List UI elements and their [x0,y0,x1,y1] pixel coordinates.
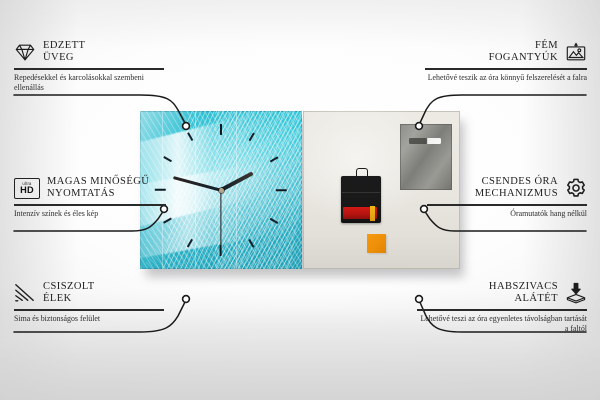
callout-description: Lehetővé teszik az óra könnyű felszerelé… [425,73,587,83]
callout-tempered-glass: EDZETTÜVEG Repedésekkel és karcolásokkal… [14,40,164,93]
callout-header: CSISZOLTÉLEK [14,281,164,306]
callout-title: MAGAS MINŐSÉGŰNYOMTATÁS [47,176,149,201]
callout-header: FÉMFOGANTYÚK [425,40,587,65]
clock-tick [163,189,221,223]
diagonal-lines-icon [14,282,36,304]
ultra-hd-icon-main: HD [20,186,34,195]
callout-divider [425,68,587,69]
callout-title: CSENDES ÓRAMECHANIZMUS [475,176,558,201]
battery-terminal [370,206,375,221]
callout-metal-handles: FÉMFOGANTYÚK Lehetővé teszik az óra könn… [425,40,587,83]
battery [343,207,376,219]
product-image [140,111,460,269]
callout-title: FÉMFOGANTYÚK [489,40,558,65]
clock-tick [221,189,287,191]
hanger-slot [409,138,441,144]
callout-silent-mechanism: CSENDES ÓRAMECHANIZMUS Óramutatók hang n… [427,176,587,219]
callout-title: HABSZIVACSALÁTÉT [489,281,558,306]
movement-seam [342,192,380,193]
callout-high-quality-print: ultra HD MAGAS MINŐSÉGŰNYOMTATÁS Intenzí… [14,176,166,219]
picture-frame-hanger-icon [565,41,587,63]
callout-description: Intenzív színek és éles kép [14,209,166,219]
movement-hook [356,168,368,178]
gear-icon [565,177,587,199]
clock-tick [220,124,222,190]
callout-polished-edges: CSISZOLTÉLEK Sima és biztonságos felület [14,281,164,324]
callout-divider [14,204,166,205]
callout-divider [427,204,587,205]
callout-description: Repedésekkel és karcolásokkal szembeni e… [14,73,164,93]
callout-header: EDZETTÜVEG [14,40,164,65]
ultra-hd-icon: ultra HD [14,178,40,199]
diamond-icon [14,41,36,63]
callout-header: CSENDES ÓRAMECHANIZMUS [427,176,587,201]
callout-divider [14,68,164,69]
callout-title: CSISZOLTÉLEK [43,281,95,306]
infographic-canvas: EDZETTÜVEG Repedésekkel és karcolásokkal… [0,0,600,400]
callout-title: EDZETTÜVEG [43,40,85,65]
arrow-onto-foam-icon [565,282,587,304]
callout-divider [417,309,587,310]
callout-header: HABSZIVACSALÁTÉT [417,281,587,306]
callout-foam-pad: HABSZIVACSALÁTÉT Lehetővé teszi az óra e… [417,281,587,334]
callout-description: Lehetővé teszi az óra egyenletes távolsá… [417,314,587,334]
callout-header: ultra HD MAGAS MINŐSÉGŰNYOMTATÁS [14,176,166,201]
foam-pad [367,234,386,253]
callout-divider [14,309,164,310]
clock-movement [341,176,382,223]
callout-description: Sima és biztonságos felület [14,314,164,324]
callout-description: Óramutatók hang nélkül [427,209,587,219]
hand-center-cap [219,188,224,193]
